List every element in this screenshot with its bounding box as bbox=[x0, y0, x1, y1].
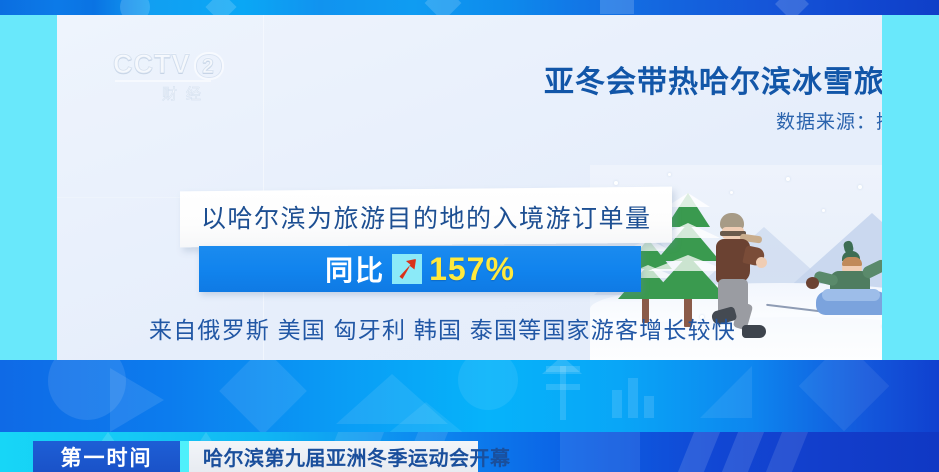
cctv-logo-number: 2 bbox=[194, 52, 224, 80]
stat-value: 157% bbox=[429, 251, 515, 288]
snowflake-icon bbox=[786, 177, 790, 181]
page-title: 亚冬会带热哈尔滨冰雪旅游 bbox=[476, 57, 882, 101]
top-decorative-bar bbox=[0, 0, 939, 15]
cctv-logo-text: CCTV bbox=[113, 49, 191, 79]
ticker-tag-label: 第一时间 bbox=[61, 442, 153, 472]
ticker-headline-text: 哈尔滨第九届亚洲冬季运动会开幕 bbox=[203, 442, 511, 471]
snowflake-icon bbox=[822, 209, 825, 212]
data-source-label: 数据来源：携程 bbox=[476, 107, 882, 134]
snowflake-icon bbox=[858, 185, 862, 189]
ticker-accent-bar bbox=[180, 441, 189, 472]
ticker-headline-box[interactable]: 哈尔滨第九届亚洲冬季运动会开幕 bbox=[189, 441, 478, 472]
left-cyan-band bbox=[0, 15, 57, 360]
snowflake-icon bbox=[614, 181, 618, 185]
ticker-tag[interactable]: 第一时间 bbox=[33, 441, 180, 472]
right-cyan-band bbox=[882, 15, 939, 360]
compare-label: 同比 bbox=[325, 249, 385, 289]
cctv-logo-subtitle: 财经 bbox=[143, 83, 229, 104]
broadcast-frame: CCTV2 财经 亚冬会带热哈尔滨冰雪旅游 数据来源：携程 bbox=[0, 0, 939, 472]
stat-bar: 同比 157% bbox=[199, 246, 641, 292]
caption-text: 以哈尔滨为旅游目的地的入境游订单量 bbox=[201, 199, 652, 235]
cctv-channel-logo: CCTV2 财经 bbox=[113, 49, 229, 111]
content-stage: CCTV2 财经 亚冬会带热哈尔滨冰雪旅游 数据来源：携程 bbox=[57, 15, 882, 360]
lower-decorative-band bbox=[0, 360, 939, 440]
note-text: 来自俄罗斯 美国 匈牙利 韩国 泰国等国家游客增长较快 bbox=[149, 311, 736, 345]
caption-card: 以哈尔滨为旅游目的地的入境游订单量 bbox=[180, 187, 672, 248]
snowflake-icon bbox=[668, 173, 671, 176]
snowflake-icon bbox=[730, 191, 733, 194]
up-right-arrow-icon bbox=[392, 254, 422, 284]
